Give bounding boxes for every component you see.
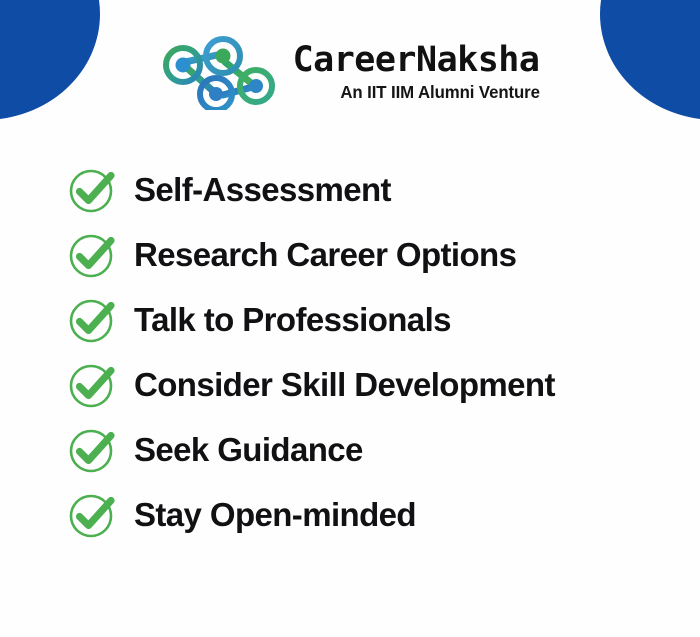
list-item: Self-Assessment bbox=[66, 157, 680, 222]
check-circle-icon bbox=[66, 359, 118, 411]
check-circle-icon bbox=[66, 294, 118, 346]
list-item-label: Self-Assessment bbox=[134, 173, 391, 206]
poster-canvas: CareerNaksha An IIT IIM Alumni Venture S… bbox=[0, 0, 700, 637]
check-circle-icon bbox=[66, 489, 118, 541]
list-item-label: Consider Skill Development bbox=[134, 368, 555, 401]
list-item-label: Seek Guidance bbox=[134, 433, 363, 466]
logo-node-left bbox=[166, 48, 200, 82]
list-item: Talk to Professionals bbox=[66, 287, 680, 352]
list-item: Stay Open-minded bbox=[66, 482, 680, 547]
checklist: Self-Assessment Research Career Options … bbox=[66, 157, 680, 547]
list-item-label: Research Career Options bbox=[134, 238, 516, 271]
list-item-label: Stay Open-minded bbox=[134, 498, 416, 531]
brand-wordmark: CareerNaksha An IIT IIM Alumni Venture bbox=[293, 41, 540, 103]
check-circle-icon bbox=[66, 229, 118, 281]
list-item-label: Talk to Professionals bbox=[134, 303, 451, 336]
brand-header: CareerNaksha An IIT IIM Alumni Venture bbox=[0, 34, 700, 110]
check-circle-icon bbox=[66, 424, 118, 476]
list-item: Consider Skill Development bbox=[66, 352, 680, 417]
list-item: Research Career Options bbox=[66, 222, 680, 287]
check-circle-icon bbox=[66, 164, 118, 216]
brand-name: CareerNaksha bbox=[293, 43, 540, 79]
list-item: Seek Guidance bbox=[66, 417, 680, 482]
brand-tagline: An IIT IIM Alumni Venture bbox=[302, 82, 539, 103]
network-nodes-logo-icon bbox=[161, 34, 279, 110]
